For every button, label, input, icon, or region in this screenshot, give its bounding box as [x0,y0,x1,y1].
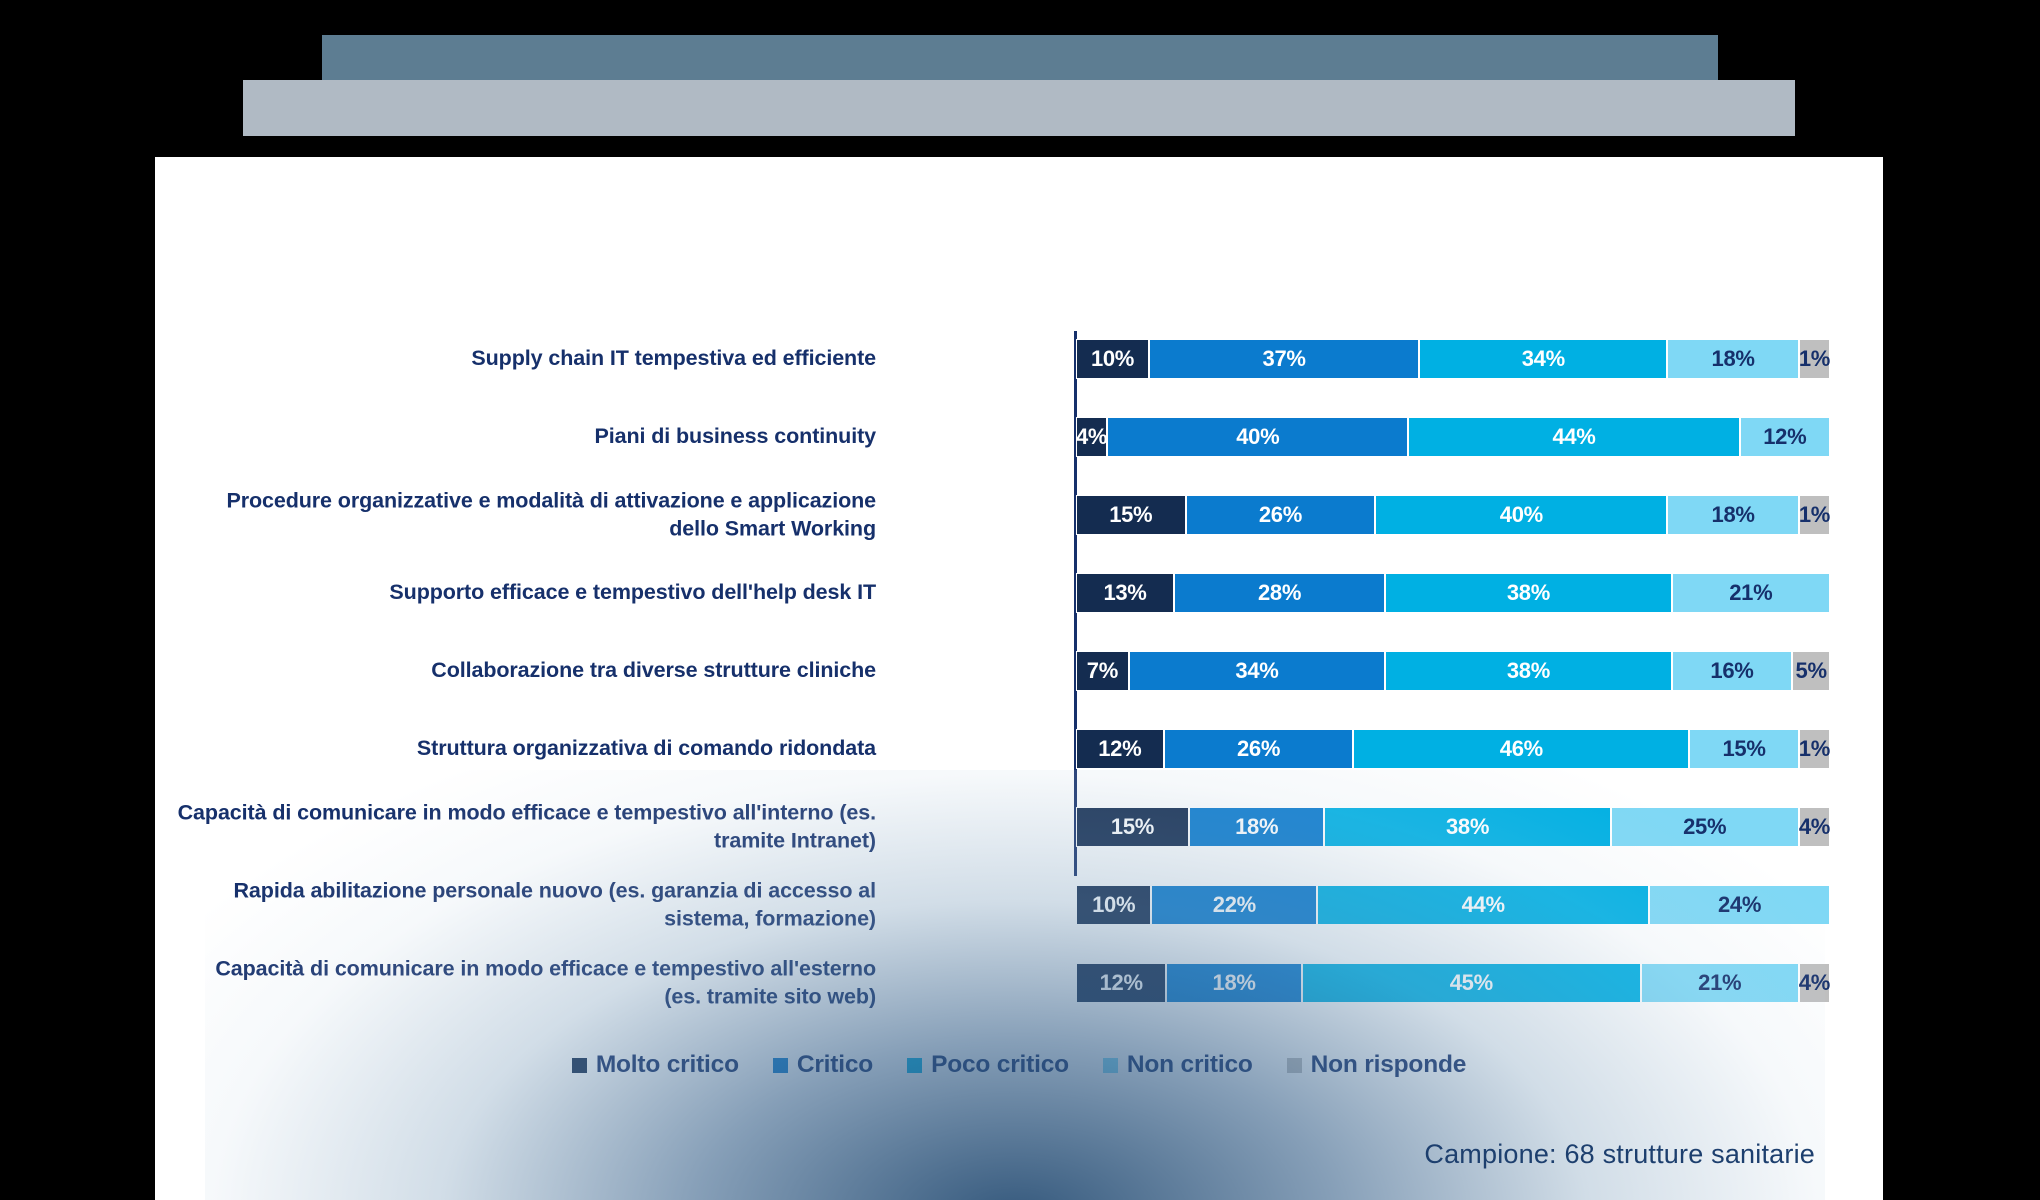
bar-segment: 13% [1076,573,1174,613]
segment-value-label: 5% [1796,658,1827,684]
segment-value-label: 1% [1799,502,1830,528]
segment-value-label: 12% [1763,424,1806,450]
bar-segment: 18% [1667,339,1798,379]
segment-value-label: 4% [1799,814,1830,840]
stacked-bar: 12%26%46%15%1% [1076,729,1830,769]
legend-label: Non risponde [1311,1051,1467,1079]
bar-segment: 12% [1076,963,1166,1003]
bar-segment: 1% [1799,729,1830,769]
category-label: Capacità di comunicare in modo efficace … [176,799,876,854]
bar-segment: 24% [1649,885,1830,925]
bar-segment: 18% [1189,807,1325,847]
segment-value-label: 4% [1799,970,1830,996]
legend-item[interactable]: Non critico [1103,1051,1253,1079]
legend-swatch-icon [1287,1058,1302,1073]
bar-segment: 21% [1672,573,1830,613]
segment-value-label: 37% [1263,346,1306,372]
segment-value-label: 46% [1500,736,1543,762]
segment-value-label: 38% [1507,580,1550,606]
legend-item[interactable]: Poco critico [907,1051,1069,1079]
chart-row: Supply chain IT tempestiva ed efficiente… [155,339,1883,379]
chart-row: Supporto efficace e tempestivo dell'help… [155,573,1883,613]
segment-value-label: 1% [1799,736,1830,762]
segment-value-label: 15% [1722,736,1765,762]
category-label: Rapida abilitazione personale nuovo (es.… [176,877,876,932]
segment-value-label: 13% [1103,580,1146,606]
segment-value-label: 10% [1092,892,1135,918]
chart-legend: Molto criticoCriticoPoco criticoNon crit… [155,1051,1883,1079]
bar-segment: 26% [1164,729,1354,769]
category-label: Struttura organizzativa di comando ridon… [176,735,876,763]
segment-value-label: 22% [1213,892,1256,918]
segment-value-label: 12% [1098,736,1141,762]
segment-value-label: 34% [1522,346,1565,372]
stacked-bar: 13%28%38%21% [1076,573,1830,613]
stacked-bar: 12%18%45%21%4% [1076,963,1830,1003]
bar-segment: 38% [1385,573,1672,613]
bar-segment: 21% [1641,963,1799,1003]
segment-value-label: 26% [1259,502,1302,528]
segment-value-label: 15% [1111,814,1154,840]
chart-row: Collaborazione tra diverse strutture cli… [155,651,1883,691]
bar-segment: 34% [1419,339,1667,379]
bar-segment: 10% [1076,885,1151,925]
bar-segment: 15% [1689,729,1799,769]
segment-value-label: 28% [1258,580,1301,606]
segment-value-label: 15% [1109,502,1152,528]
bar-segment: 25% [1611,807,1799,847]
stacked-bar-chart: Supply chain IT tempestiva ed efficiente… [155,157,1883,1200]
segment-value-label: 34% [1235,658,1278,684]
bar-segment: 45% [1302,963,1641,1003]
legend-swatch-icon [907,1058,922,1073]
chart-row: Piani di business continuity4%40%44%12% [155,417,1883,457]
bar-segment: 5% [1792,651,1830,691]
legend-label: Non critico [1127,1051,1253,1079]
bar-segment: 15% [1076,495,1186,535]
chart-row: Capacità di comunicare in modo efficace … [155,963,1883,1003]
bar-segment: 40% [1107,417,1408,457]
bar-segment: 37% [1149,339,1419,379]
bar-segment: 16% [1672,651,1793,691]
legend-label: Critico [797,1051,873,1079]
segment-value-label: 10% [1091,346,1134,372]
segment-value-label: 18% [1712,502,1755,528]
segment-value-label: 18% [1235,814,1278,840]
category-label: Procedure organizzative e modalità di at… [176,487,876,542]
legend-label: Molto critico [596,1051,739,1079]
decorative-header-bar-light [243,80,1795,136]
bar-segment: 12% [1740,417,1830,457]
bar-segment: 7% [1076,651,1129,691]
screenshot-root: Supply chain IT tempestiva ed efficiente… [0,0,2040,1200]
bar-segment: 44% [1408,417,1739,457]
chart-row: Capacità di comunicare in modo efficace … [155,807,1883,847]
segment-value-label: 18% [1213,970,1256,996]
slide-card: Supply chain IT tempestiva ed efficiente… [155,157,1883,1200]
legend-swatch-icon [1103,1058,1118,1073]
bar-segment: 22% [1151,885,1317,925]
segment-value-label: 40% [1500,502,1543,528]
stacked-bar: 10%22%44%24% [1076,885,1830,925]
bar-segment: 1% [1799,339,1830,379]
bar-segment: 34% [1129,651,1385,691]
category-label: Piani di business continuity [176,423,876,451]
bar-segment: 18% [1667,495,1798,535]
bar-segment: 18% [1166,963,1302,1003]
legend-item[interactable]: Non risponde [1287,1051,1467,1079]
segment-value-label: 4% [1076,424,1107,450]
segment-value-label: 18% [1712,346,1755,372]
bar-segment: 4% [1076,417,1107,457]
segment-value-label: 38% [1446,814,1489,840]
segment-value-label: 1% [1799,346,1830,372]
bar-segment: 40% [1375,495,1667,535]
chart-row: Rapida abilitazione personale nuovo (es.… [155,885,1883,925]
segment-value-label: 26% [1237,736,1280,762]
segment-value-label: 44% [1552,424,1595,450]
bar-segment: 38% [1385,651,1672,691]
category-label: Capacità di comunicare in modo efficace … [176,955,876,1010]
legend-label: Poco critico [931,1051,1069,1079]
bar-segment: 1% [1799,495,1830,535]
category-label: Supply chain IT tempestiva ed efficiente [176,345,876,373]
stacked-bar: 10%37%34%18%1% [1076,339,1830,379]
bar-segment: 4% [1799,807,1830,847]
sample-size-note: Campione: 68 strutture sanitarie [1424,1139,1815,1170]
stacked-bar: 7%34%38%16%5% [1076,651,1830,691]
segment-value-label: 24% [1718,892,1761,918]
bar-segment: 44% [1317,885,1649,925]
bar-segment: 12% [1076,729,1164,769]
legend-item[interactable]: Critico [773,1051,873,1079]
segment-value-label: 7% [1087,658,1118,684]
segment-value-label: 16% [1710,658,1753,684]
bar-segment: 46% [1353,729,1689,769]
stacked-bar: 4%40%44%12% [1076,417,1830,457]
segment-value-label: 21% [1698,970,1741,996]
category-label: Supporto efficace e tempestivo dell'help… [176,579,876,607]
category-label: Collaborazione tra diverse strutture cli… [176,657,876,685]
bar-segment: 28% [1174,573,1385,613]
segment-value-label: 45% [1450,970,1493,996]
segment-value-label: 44% [1462,892,1505,918]
segment-value-label: 25% [1683,814,1726,840]
bar-segment: 10% [1076,339,1149,379]
legend-item[interactable]: Molto critico [572,1051,739,1079]
bar-segment: 38% [1324,807,1610,847]
segment-value-label: 21% [1729,580,1772,606]
segment-value-label: 12% [1100,970,1143,996]
legend-swatch-icon [773,1058,788,1073]
legend-swatch-icon [572,1058,587,1073]
bar-segment: 15% [1076,807,1189,847]
stacked-bar: 15%18%38%25%4% [1076,807,1830,847]
stacked-bar: 15%26%40%18%1% [1076,495,1830,535]
chart-row: Procedure organizzative e modalità di at… [155,495,1883,535]
chart-row: Struttura organizzativa di comando ridon… [155,729,1883,769]
bar-segment: 26% [1186,495,1376,535]
segment-value-label: 38% [1507,658,1550,684]
bar-segment: 4% [1799,963,1830,1003]
segment-value-label: 40% [1236,424,1279,450]
